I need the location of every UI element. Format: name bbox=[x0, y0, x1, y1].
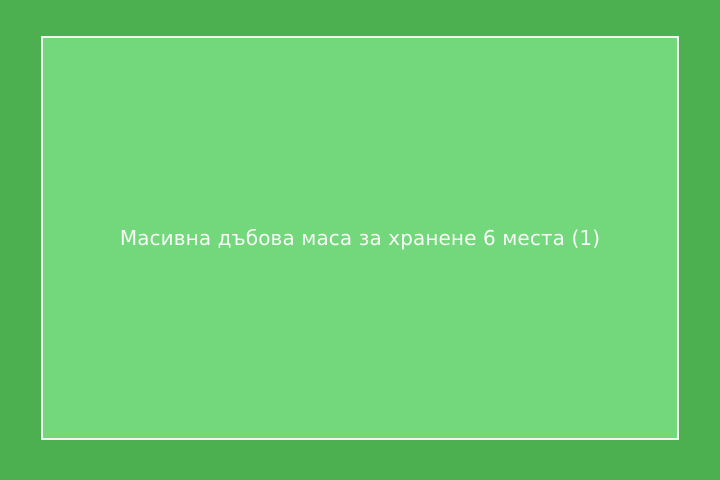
image-placeholder-caption: Масивна дъбова маса за хранене 6 места (… bbox=[43, 225, 677, 251]
image-placeholder-panel: Масивна дъбова маса за хранене 6 места (… bbox=[41, 36, 679, 440]
image-placeholder-canvas: Масивна дъбова маса за хранене 6 места (… bbox=[0, 0, 720, 480]
